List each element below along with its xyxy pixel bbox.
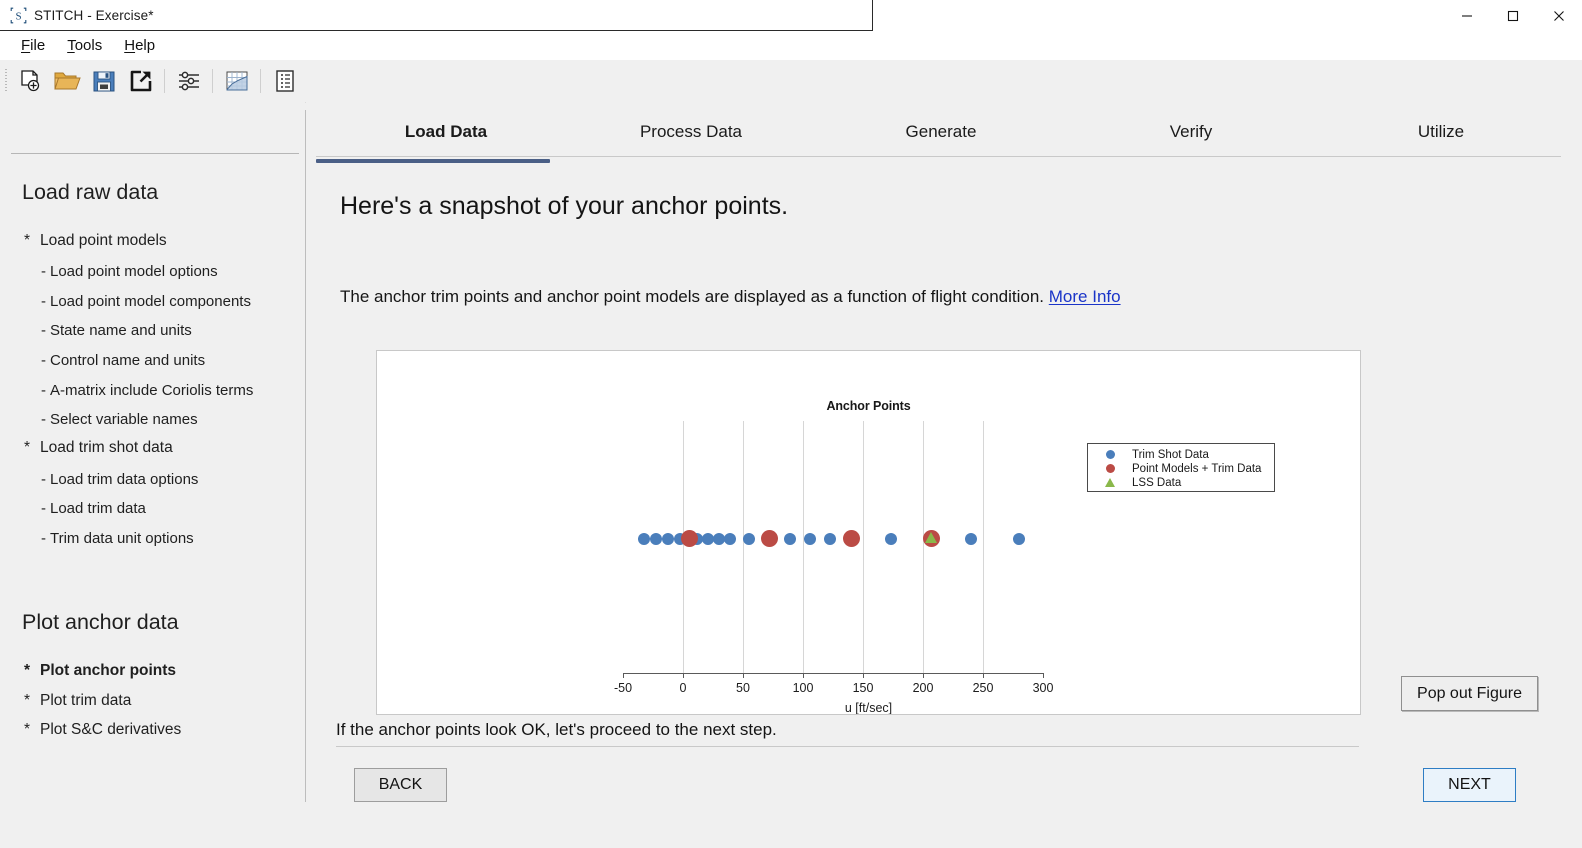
- data-point-trim-shot: [650, 533, 662, 545]
- sidebar-bullet: *: [24, 662, 40, 680]
- legend-entry-lss-data: LSS Data: [1088, 475, 1181, 490]
- x-tick: [1043, 673, 1044, 678]
- sidebar-item-plot-trim-data[interactable]: *Plot trim data: [24, 692, 131, 710]
- data-point-trim-shot: [824, 533, 836, 545]
- active-tab-indicator: [316, 159, 550, 163]
- footer-note: If the anchor points look OK, let's proc…: [336, 720, 777, 740]
- x-tick: [863, 673, 864, 678]
- title-bar-edge: [872, 0, 873, 31]
- sidebar-bullet: *: [24, 692, 40, 710]
- data-point-trim-shot: [784, 533, 796, 545]
- x-tick: [983, 673, 984, 678]
- sidebar-item-label: Load point models: [40, 232, 167, 249]
- stitch-s-logo-icon: S: [10, 7, 27, 24]
- toolbar-separator-2: [212, 69, 213, 93]
- x-tick: [623, 673, 624, 678]
- window-controls: [1444, 0, 1582, 31]
- data-point-point-model: [843, 530, 860, 547]
- sidebar-item-plot-sc-derivatives[interactable]: *Plot S&C derivatives: [24, 721, 181, 739]
- sidebar-item-label: Plot S&C derivatives: [40, 721, 181, 738]
- menu-tools[interactable]: Tools: [56, 35, 113, 56]
- next-button[interactable]: NEXT: [1423, 768, 1516, 802]
- legend-marker-circle-blue-icon: [1088, 450, 1132, 459]
- x-tick-label: 0: [658, 681, 708, 695]
- svg-text:S: S: [15, 11, 21, 23]
- gridline-150: [863, 421, 864, 673]
- maximize-button[interactable]: [1490, 0, 1536, 31]
- save-floppy-icon[interactable]: [85, 63, 122, 99]
- report-list-icon[interactable]: [266, 63, 303, 99]
- sidebar-heading-load-raw-data: Load raw data: [22, 180, 158, 205]
- chart-title: Anchor Points: [377, 399, 1360, 413]
- data-point-point-model: [681, 530, 698, 547]
- sidebar-item-label: Load trim shot data: [40, 439, 173, 456]
- sidebar-item-control-name-and-units[interactable]: -Control name and units: [41, 352, 205, 369]
- page-description-text: The anchor trim points and anchor point …: [340, 287, 1044, 306]
- sidebar-bullet: *: [24, 439, 40, 457]
- sidebar-item-load-point-models[interactable]: *Load point models: [24, 232, 167, 250]
- title-bar-left: S STITCH - Exercise*: [0, 7, 154, 24]
- x-tick-label: 150: [838, 681, 888, 695]
- anchor-points-figure[interactable]: Anchor Points: [376, 350, 1361, 715]
- sidebar-item-load-point-model-options[interactable]: -Load point model options: [41, 263, 218, 280]
- x-tick-label: 300: [1018, 681, 1068, 695]
- tool-bar: [0, 60, 1582, 103]
- tab-utilize[interactable]: Utilize: [1351, 122, 1531, 142]
- new-document-icon[interactable]: [11, 63, 48, 99]
- status-bar: [0, 802, 1582, 848]
- sidebar-divider: [11, 153, 299, 154]
- data-point-trim-shot: [965, 533, 977, 545]
- sidebar-item-label: Plot anchor points: [40, 662, 176, 679]
- sidebar-bullet: -: [41, 382, 50, 399]
- legend-entry-point-models: Point Models + Trim Data: [1088, 461, 1261, 476]
- minimize-button[interactable]: [1444, 0, 1490, 31]
- sidebar-item-label: Trim data unit options: [50, 530, 194, 547]
- x-tick-label: 100: [778, 681, 828, 695]
- sidebar-bullet: -: [41, 530, 50, 547]
- sidebar-bullet: *: [24, 721, 40, 739]
- stitch-application-window: S STITCH - Exercise* File Tools Help: [0, 0, 1582, 848]
- tab-load-data[interactable]: Load Data: [356, 122, 536, 142]
- page-title: Here's a snapshot of your anchor points.: [340, 192, 788, 221]
- data-point-trim-shot: [743, 533, 755, 545]
- sidebar-item-label: Control name and units: [50, 352, 205, 369]
- sidebar-item-label: Load trim data: [50, 500, 146, 517]
- sidebar-item-label: Select variable names: [50, 411, 198, 428]
- main-content-panel: Load Data Process Data Generate Verify U…: [306, 102, 1582, 802]
- sidebar-item-plot-anchor-points[interactable]: *Plot anchor points: [24, 662, 176, 680]
- gridline-0: [683, 421, 684, 673]
- x-tick: [683, 673, 684, 678]
- sidebar-item-label: Plot trim data: [40, 692, 131, 709]
- sidebar-bullet: -: [41, 322, 50, 339]
- open-folder-icon[interactable]: [48, 63, 85, 99]
- sidebar-item-load-point-model-components[interactable]: -Load point model components: [41, 293, 251, 310]
- tab-verify[interactable]: Verify: [1101, 122, 1281, 142]
- sidebar-navigation: Load raw data *Load point models -Load p…: [0, 102, 305, 802]
- sidebar-heading-plot-anchor-data: Plot anchor data: [22, 610, 179, 635]
- sidebar-item-a-matrix-coriolis[interactable]: -A-matrix include Coriolis terms: [41, 382, 253, 399]
- menu-bar: File Tools Help: [0, 31, 1582, 60]
- x-tick-label: 200: [898, 681, 948, 695]
- close-button[interactable]: [1536, 0, 1582, 31]
- data-point-trim-shot: [1013, 533, 1025, 545]
- toolbar-separator-3: [260, 69, 261, 93]
- x-tick: [923, 673, 924, 678]
- chart-plot-area: Trim Shot Data Point Models + Trim Data …: [623, 421, 1043, 677]
- gridline-250: [983, 421, 984, 673]
- legend-label: Trim Shot Data: [1132, 449, 1209, 461]
- window-title: STITCH - Exercise*: [34, 8, 154, 23]
- surface-plot-grid-icon[interactable]: [218, 63, 255, 99]
- page-description: The anchor trim points and anchor point …: [340, 287, 1121, 307]
- data-point-trim-shot: [638, 533, 650, 545]
- sidebar-item-trim-data-unit-options[interactable]: -Trim data unit options: [41, 530, 194, 547]
- legend-label: LSS Data: [1132, 477, 1181, 489]
- legend-marker-triangle-green-icon: [1088, 478, 1132, 487]
- sidebar-bullet: -: [41, 411, 50, 428]
- sidebar-item-label: Load point model options: [50, 263, 218, 280]
- legend-marker-circle-red-icon: [1088, 464, 1132, 473]
- data-point-trim-shot: [662, 533, 674, 545]
- data-point-trim-shot: [885, 533, 897, 545]
- sidebar-item-label: Load point model components: [50, 293, 251, 310]
- sidebar-item-select-variable-names[interactable]: -Select variable names: [41, 411, 198, 428]
- sidebar-bullet: -: [41, 293, 50, 310]
- sidebar-bullet: -: [41, 352, 50, 369]
- toolbar-drag-handle[interactable]: [3, 69, 11, 93]
- menu-help[interactable]: Help: [113, 35, 166, 56]
- tab-generate[interactable]: Generate: [851, 122, 1031, 142]
- tab-bar: Load Data Process Data Generate Verify U…: [316, 108, 1571, 161]
- sidebar-item-load-trim-shot-data[interactable]: *Load trim shot data: [24, 439, 173, 457]
- x-tick: [743, 673, 744, 678]
- x-tick-label: 250: [958, 681, 1008, 695]
- anchor-points-chart: Anchor Points: [377, 351, 1360, 714]
- title-bar: S STITCH - Exercise*: [0, 0, 1582, 31]
- gridline-50: [743, 421, 744, 673]
- tab-process-data[interactable]: Process Data: [601, 122, 781, 142]
- sidebar-bullet: -: [41, 263, 50, 280]
- x-tick-label: 50: [718, 681, 768, 695]
- chart-legend: Trim Shot Data Point Models + Trim Data …: [1087, 443, 1275, 492]
- back-button[interactable]: BACK: [354, 768, 447, 802]
- data-point-point-model: [761, 530, 778, 547]
- gridline-200: [923, 421, 924, 673]
- chart-x-axis-label: u [ft/sec]: [377, 701, 1360, 715]
- settings-sliders-icon[interactable]: [170, 63, 207, 99]
- sidebar-item-load-trim-data[interactable]: -Load trim data: [41, 500, 146, 517]
- sidebar-item-label: A-matrix include Coriolis terms: [50, 382, 253, 399]
- sidebar-item-label: State name and units: [50, 322, 192, 339]
- export-share-icon[interactable]: [122, 63, 159, 99]
- toolbar-separator-1: [164, 69, 165, 93]
- data-point-trim-shot: [724, 533, 736, 545]
- x-tick-label: -50: [598, 681, 648, 695]
- sidebar-item-state-name-and-units[interactable]: -State name and units: [41, 322, 192, 339]
- menu-file[interactable]: File: [10, 35, 56, 56]
- sidebar-item-load-trim-data-options[interactable]: -Load trim data options: [41, 471, 198, 488]
- tab-bar-baseline: [316, 156, 1561, 157]
- legend-label: Point Models + Trim Data: [1132, 463, 1261, 475]
- sidebar-bullet: -: [41, 500, 50, 517]
- menu-tools-label: ools: [75, 37, 103, 54]
- pop-out-figure-button[interactable]: Pop out Figure: [1401, 676, 1538, 711]
- sidebar-item-label: Load trim data options: [50, 471, 198, 488]
- legend-entry-trim-shot-data: Trim Shot Data: [1088, 447, 1209, 462]
- menu-file-label: ile: [30, 37, 45, 54]
- more-info-link[interactable]: More Info: [1049, 287, 1121, 306]
- gridline-100: [803, 421, 804, 673]
- menu-help-label: elp: [135, 37, 155, 54]
- chart-x-axis-line: [623, 673, 1043, 674]
- footer-divider: [336, 746, 1359, 747]
- sidebar-bullet: -: [41, 471, 50, 488]
- sidebar-bullet: *: [24, 232, 40, 250]
- data-point-lss: [925, 532, 937, 543]
- x-tick: [803, 673, 804, 678]
- data-point-trim-shot: [804, 533, 816, 545]
